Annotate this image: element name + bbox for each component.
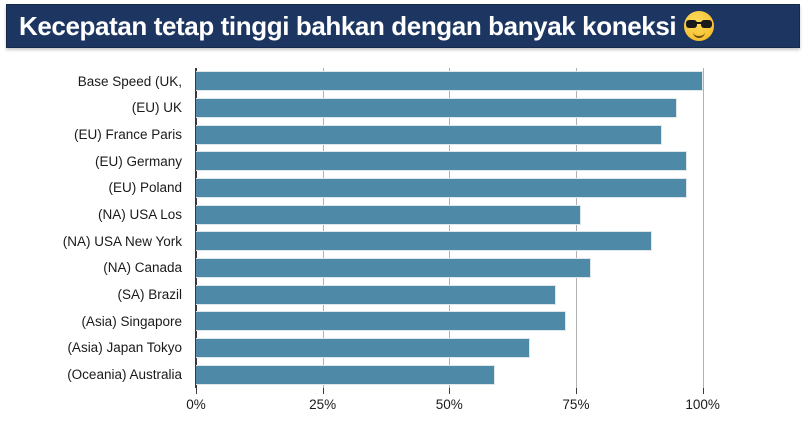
y-axis-label: Base Speed (UK, xyxy=(78,75,182,89)
y-axis-label-row: (EU) Poland xyxy=(0,175,190,202)
smiling-face-with-sunglasses-icon xyxy=(684,11,714,41)
bar xyxy=(196,178,687,198)
y-axis-label-row: (Asia) Japan Tokyo xyxy=(0,335,190,362)
bar-row xyxy=(196,335,733,362)
bar-row xyxy=(196,68,733,95)
y-axis-label-row: Base Speed (UK, xyxy=(0,68,190,95)
y-axis-label-row: (EU) Germany xyxy=(0,148,190,175)
y-axis-label-row: (Oceania) Australia xyxy=(0,361,190,388)
x-axis-tick-label: 75% xyxy=(562,398,589,412)
bar-row xyxy=(196,175,733,202)
plot-area xyxy=(196,68,733,388)
x-axis-tick-label: 50% xyxy=(436,398,463,412)
y-axis-label: (SA) Brazil xyxy=(117,288,182,302)
emoji-lens-right xyxy=(701,20,712,28)
x-axis-tick xyxy=(449,388,450,394)
y-axis-label: (EU) Germany xyxy=(95,155,182,169)
y-axis-label-row: (SA) Brazil xyxy=(0,281,190,308)
bar xyxy=(196,311,566,331)
bar xyxy=(196,71,703,91)
y-axis-label: (NA) USA Los xyxy=(98,208,182,222)
x-axis-tick xyxy=(576,388,577,394)
y-axis-label-row: (NA) Canada xyxy=(0,255,190,282)
bar-row xyxy=(196,95,733,122)
y-axis-label-row: (NA) USA Los xyxy=(0,201,190,228)
y-axis-label: (Asia) Singapore xyxy=(81,315,182,329)
x-axis: 0%25%50%75%100% xyxy=(196,388,733,428)
emoji-sunglasses-shape xyxy=(686,20,712,28)
plot-wrapper: Base Speed (UK,(EU) UK(EU) France Paris(… xyxy=(0,56,806,435)
bar-row xyxy=(196,361,733,388)
x-axis-tick xyxy=(196,388,197,394)
y-axis-label: (EU) UK xyxy=(132,101,182,115)
bar-row xyxy=(196,121,733,148)
x-axis-tick-label: 0% xyxy=(186,398,206,412)
x-axis-tick xyxy=(323,388,324,394)
bar xyxy=(196,205,581,225)
y-axis-label: (Asia) Japan Tokyo xyxy=(67,341,182,355)
bar-series xyxy=(196,68,733,388)
x-axis-tick-label: 25% xyxy=(309,398,336,412)
y-axis-label: (EU) Poland xyxy=(108,181,182,195)
bar xyxy=(196,125,662,145)
y-axis-label-row: (Asia) Singapore xyxy=(0,308,190,335)
x-axis-tick xyxy=(703,388,704,394)
bar-row xyxy=(196,201,733,228)
y-axis-label: (Oceania) Australia xyxy=(67,368,182,382)
chart-page: Kecepatan tetap tinggi bahkan dengan ban… xyxy=(0,0,806,435)
bar-row xyxy=(196,281,733,308)
bar xyxy=(196,151,687,171)
y-axis-label-row: (EU) UK xyxy=(0,95,190,122)
bar-row xyxy=(196,308,733,335)
y-axis-labels: Base Speed (UK,(EU) UK(EU) France Paris(… xyxy=(0,68,190,388)
bar-row xyxy=(196,255,733,282)
bar-row xyxy=(196,148,733,175)
y-axis-label-row: (EU) France Paris xyxy=(0,121,190,148)
bar-chart: Base Speed (UK,(EU) UK(EU) France Paris(… xyxy=(0,56,806,435)
y-axis-label-row: (NA) USA New York xyxy=(0,228,190,255)
bar xyxy=(196,98,677,118)
bar xyxy=(196,365,495,385)
bar-row xyxy=(196,228,733,255)
x-axis-tick-label: 100% xyxy=(685,398,720,412)
bar xyxy=(196,285,556,305)
banner-title: Kecepatan tetap tinggi bahkan dengan ban… xyxy=(19,13,676,39)
banner-header: Kecepatan tetap tinggi bahkan dengan ban… xyxy=(6,4,800,48)
bar xyxy=(196,338,530,358)
y-axis-label: (EU) France Paris xyxy=(74,128,182,142)
bar xyxy=(196,258,591,278)
y-axis-label: (NA) USA New York xyxy=(63,235,182,249)
y-axis-label: (NA) Canada xyxy=(103,261,182,275)
bar xyxy=(196,231,652,251)
